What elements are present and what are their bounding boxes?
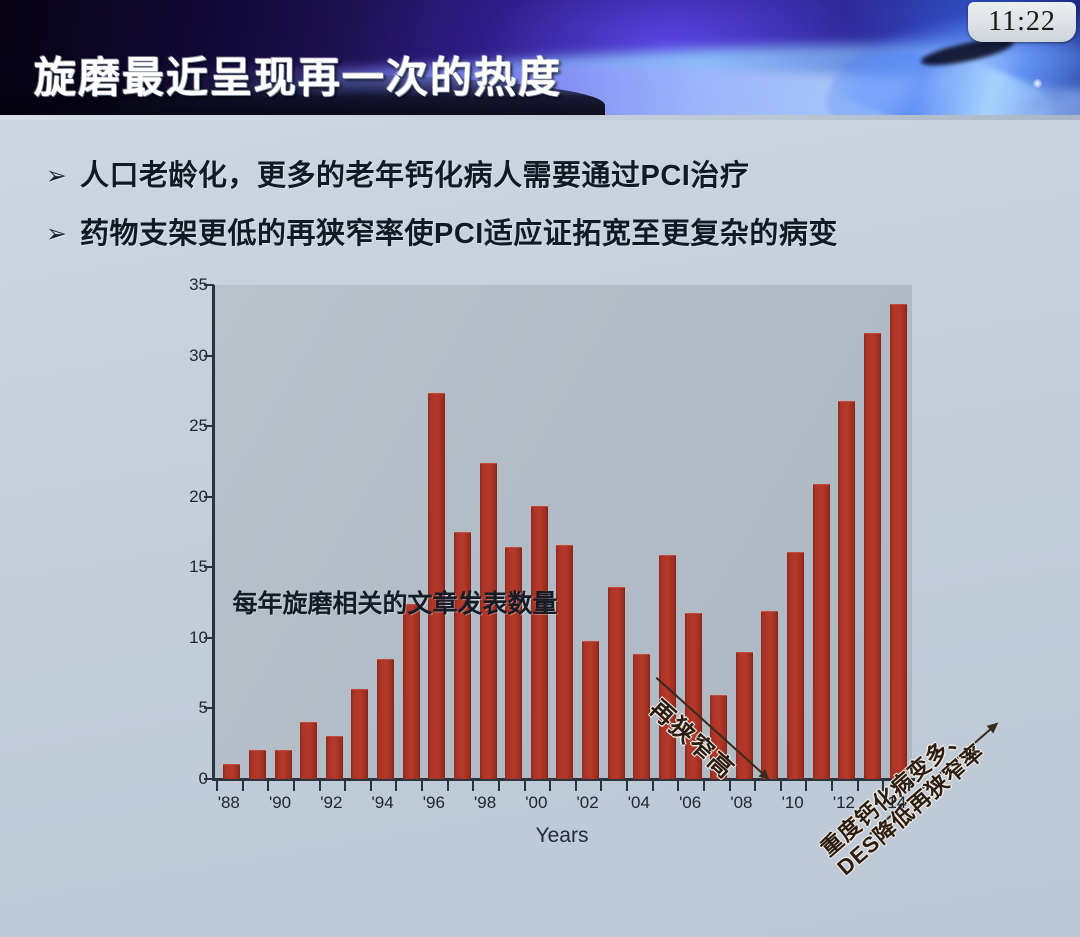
x-axis-tickmark bbox=[780, 779, 782, 791]
bar bbox=[300, 722, 317, 779]
x-axis-tickmark bbox=[421, 779, 423, 791]
x-axis-tickmark bbox=[447, 779, 449, 791]
list-item: ➢ 药物支架更低的再狭窄率使PCI适应证拓宽至更复杂的病变 bbox=[46, 214, 946, 254]
chevron-right-icon: ➢ bbox=[46, 214, 80, 254]
bar-slot bbox=[398, 285, 424, 779]
bar bbox=[710, 695, 727, 779]
bar-slot bbox=[732, 285, 758, 779]
y-axis-tick-labels: 05101520253035 bbox=[164, 285, 208, 779]
bar-slot bbox=[834, 285, 860, 779]
bar-slot bbox=[296, 285, 322, 779]
x-axis-tickmark bbox=[370, 779, 372, 791]
bar-slot bbox=[808, 285, 834, 779]
banner-bottom-edge bbox=[0, 115, 1080, 120]
x-axis-tick: '12 bbox=[833, 793, 855, 813]
bar-slot bbox=[603, 285, 629, 779]
x-axis-tick: '92 bbox=[320, 793, 342, 813]
bar-slot bbox=[219, 285, 245, 779]
bullet-text: 药物支架更低的再狭窄率使PCI适应证拓宽至更复杂的病变 bbox=[80, 214, 838, 254]
bar-series bbox=[219, 285, 911, 779]
x-axis-tick: '00 bbox=[525, 793, 547, 813]
bullet-text: 人口老龄化，更多的老年钙化病人需要通过PCI治疗 bbox=[80, 156, 749, 196]
bar bbox=[505, 547, 522, 779]
x-axis-tickmark bbox=[216, 779, 218, 791]
bar-slot bbox=[860, 285, 886, 779]
y-axis-tick: 15 bbox=[164, 557, 208, 577]
y-axis-tick: 10 bbox=[164, 628, 208, 648]
bar-slot bbox=[527, 285, 553, 779]
x-axis-tick-labels: '88'90'92'94'96'98'00'02'04'06'08'10'12'… bbox=[212, 793, 912, 819]
bar bbox=[864, 333, 881, 779]
bar bbox=[377, 659, 394, 779]
x-axis-tickmark bbox=[677, 779, 679, 791]
x-axis-tickmark bbox=[344, 779, 346, 791]
x-axis-tick: '08 bbox=[730, 793, 752, 813]
y-axis-tickmark bbox=[204, 284, 214, 286]
x-axis-tickmarks bbox=[212, 779, 912, 793]
x-axis-tick: '90 bbox=[269, 793, 291, 813]
x-axis-tick: '94 bbox=[372, 793, 394, 813]
bar bbox=[223, 764, 240, 779]
x-axis-tickmark bbox=[805, 779, 807, 791]
bar bbox=[761, 611, 778, 779]
bar-slot bbox=[270, 285, 296, 779]
y-axis-tickmark bbox=[204, 566, 214, 568]
bar bbox=[838, 401, 855, 779]
x-axis-tickmark bbox=[549, 779, 551, 791]
bar bbox=[249, 750, 266, 779]
bar bbox=[813, 484, 830, 779]
x-axis-tickmark bbox=[498, 779, 500, 791]
bar-slot bbox=[757, 285, 783, 779]
x-axis-tickmark bbox=[472, 779, 474, 791]
bar-slot bbox=[706, 285, 732, 779]
bar-slot bbox=[783, 285, 809, 779]
clock-time: 11:22 bbox=[988, 6, 1056, 38]
x-axis-tick: '02 bbox=[577, 793, 599, 813]
y-axis-tickmark bbox=[204, 707, 214, 709]
x-axis-tick: '10 bbox=[782, 793, 804, 813]
y-axis-tick: 25 bbox=[164, 416, 208, 436]
x-axis-tickmark bbox=[319, 779, 321, 791]
x-axis-tick: '88 bbox=[218, 793, 240, 813]
x-axis-tickmark bbox=[857, 779, 859, 791]
bar-slot bbox=[450, 285, 476, 779]
chart-caption: 每年旋磨相关的文章发表数量 bbox=[0, 584, 790, 620]
y-axis-tick: 0 bbox=[164, 769, 208, 789]
bar-slot bbox=[424, 285, 450, 779]
x-axis-tickmark bbox=[729, 779, 731, 791]
x-axis-tickmark bbox=[600, 779, 602, 791]
x-axis-tickmark bbox=[831, 779, 833, 791]
plot-area: 再狭窄高 重度钙化病变多、 DES降低再狭窄率 bbox=[212, 285, 912, 779]
bar-slot bbox=[578, 285, 604, 779]
y-axis-tick: 35 bbox=[164, 275, 208, 295]
y-axis-tickmark bbox=[204, 355, 214, 357]
list-item: ➢ 人口老龄化，更多的老年钙化病人需要通过PCI治疗 bbox=[46, 156, 946, 196]
y-axis-tickmark bbox=[204, 496, 214, 498]
x-axis-tick: '96 bbox=[423, 793, 445, 813]
x-axis-tick: '06 bbox=[679, 793, 701, 813]
page-title: 旋磨最近呈现再一次的热度 bbox=[34, 44, 562, 105]
bar bbox=[454, 532, 471, 779]
x-axis-tickmark bbox=[703, 779, 705, 791]
bar-slot bbox=[655, 285, 681, 779]
x-axis-tickmark bbox=[293, 779, 295, 791]
x-axis-tickmark bbox=[626, 779, 628, 791]
bar bbox=[633, 654, 650, 779]
x-axis-tickmark bbox=[524, 779, 526, 791]
bar bbox=[403, 604, 420, 779]
x-axis-tickmark bbox=[267, 779, 269, 791]
bar-slot bbox=[373, 285, 399, 779]
bullet-list: ➢ 人口老龄化，更多的老年钙化病人需要通过PCI治疗 ➢ 药物支架更低的再狭窄率… bbox=[46, 156, 946, 272]
bar-slot bbox=[552, 285, 578, 779]
clock-badge: 11:22 bbox=[968, 2, 1076, 42]
y-axis-tick: 5 bbox=[164, 698, 208, 718]
bar bbox=[351, 689, 368, 779]
bar-slot bbox=[322, 285, 348, 779]
chevron-right-icon: ➢ bbox=[46, 156, 80, 196]
bar-slot bbox=[885, 285, 911, 779]
publications-bar-chart: Publications (n) 05101520253035 再狭窄高 重度钙… bbox=[140, 272, 930, 892]
bar bbox=[685, 613, 702, 779]
x-axis-tick: '04 bbox=[628, 793, 650, 813]
x-axis-tickmark bbox=[882, 779, 884, 791]
x-axis-tickmark bbox=[908, 779, 910, 791]
bar-slot bbox=[501, 285, 527, 779]
x-axis-tickmark bbox=[652, 779, 654, 791]
x-axis-tick: '14 bbox=[884, 793, 906, 813]
bar-slot bbox=[475, 285, 501, 779]
x-axis-tickmark bbox=[754, 779, 756, 791]
bar bbox=[556, 545, 573, 779]
presentation-slide: 旋磨最近呈现再一次的热度 11:22 ➢ 人口老龄化，更多的老年钙化病人需要通过… bbox=[0, 0, 1080, 937]
bar-slot bbox=[629, 285, 655, 779]
y-axis-tick: 20 bbox=[164, 487, 208, 507]
bar bbox=[275, 750, 292, 779]
x-axis-tick: '98 bbox=[474, 793, 496, 813]
bar bbox=[326, 736, 343, 779]
y-axis-tickmark bbox=[204, 637, 214, 639]
bar bbox=[890, 304, 907, 779]
y-axis-tick: 30 bbox=[164, 346, 208, 366]
bar bbox=[531, 506, 548, 779]
bar bbox=[480, 463, 497, 779]
x-axis-tickmark bbox=[575, 779, 577, 791]
x-axis-tickmark bbox=[242, 779, 244, 791]
y-axis-tickmark bbox=[204, 425, 214, 427]
x-axis-label: Years bbox=[212, 824, 912, 848]
x-axis-tickmark bbox=[395, 779, 397, 791]
bar-slot bbox=[245, 285, 271, 779]
bar bbox=[582, 641, 599, 779]
bar-slot bbox=[347, 285, 373, 779]
